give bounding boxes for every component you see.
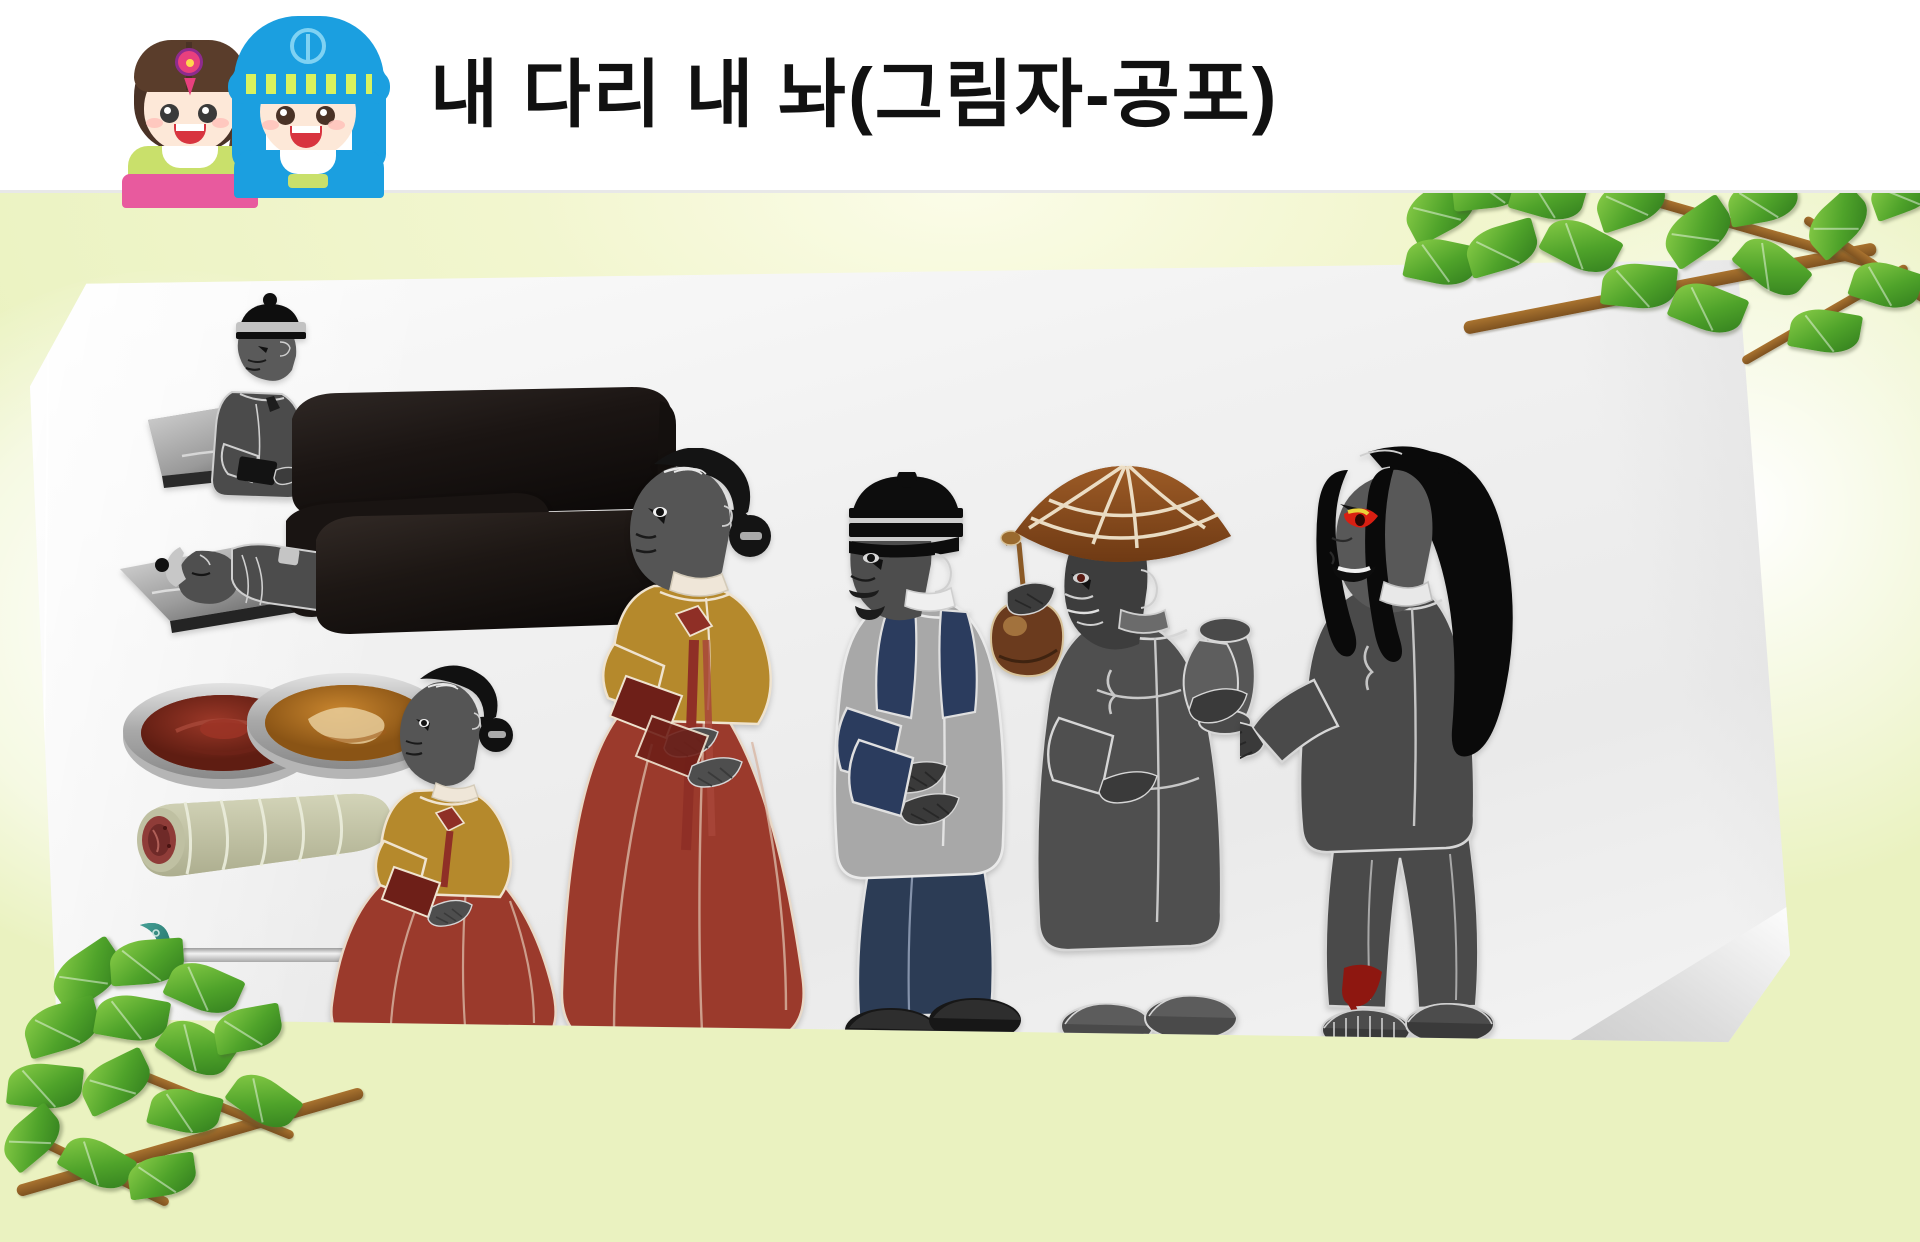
girl-collar — [162, 146, 218, 168]
character-ghost-with-red-eye — [1240, 440, 1600, 1050]
page-title: 내 다리 내 놔(그림자-공포) — [430, 58, 1278, 132]
boy-collar — [280, 150, 336, 174]
boy-hat-emblem-icon — [290, 28, 326, 64]
girl-eye-left — [160, 104, 179, 123]
mascot-group — [110, 8, 400, 183]
boy-belt — [288, 174, 328, 188]
leafy-branch-top-right — [1400, 190, 1920, 430]
boy-eye-left — [276, 106, 295, 125]
girl-blush-right — [212, 118, 229, 128]
page-header: 내 다리 내 놔(그림자-공포) — [0, 0, 1920, 193]
slide-stage: 그림자 인형극 장면 - 내 다리 내 놔 — [0, 190, 1920, 1242]
girl-blush-left — [146, 118, 163, 128]
girl-flower-ornament-icon — [175, 48, 203, 76]
leafy-branch-bottom-left — [0, 930, 430, 1230]
korean-boy-official-mascot — [228, 8, 388, 193]
boy-blush-left — [262, 120, 279, 130]
boy-hat-pattern — [246, 74, 372, 94]
boy-blush-right — [328, 120, 345, 130]
